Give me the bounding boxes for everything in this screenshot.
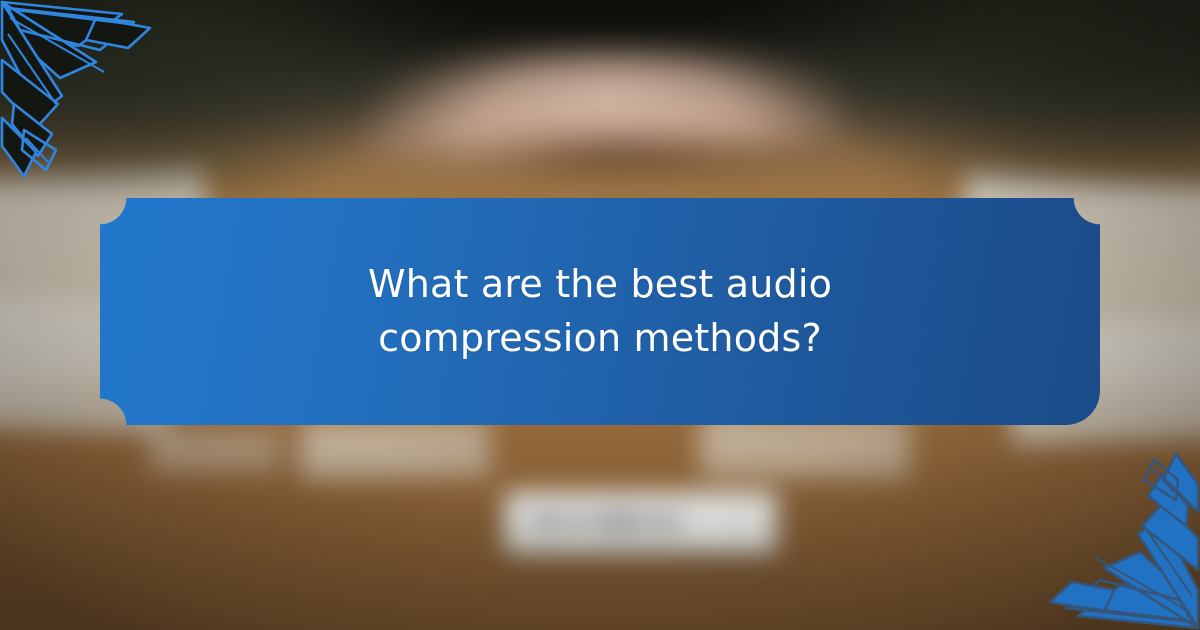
nameplate-glyph-1 [533, 514, 559, 529]
clasped-hands [330, 42, 890, 177]
desk-paper-center-1 [300, 418, 491, 479]
question-title: What are the best audio compression meth… [260, 258, 940, 366]
screenshot-canvas: What are the best audio compression meth… [0, 0, 1200, 630]
nameplate-glyph-3 [593, 514, 647, 529]
desk-nameplate [505, 492, 777, 554]
nameplate-glyph-4 [656, 514, 678, 529]
desk-nameplate-text [533, 514, 678, 529]
desk-paper-center-3 [150, 430, 280, 472]
question-card: What are the best audio compression meth… [100, 198, 1100, 425]
nameplate-glyph-2 [568, 514, 584, 529]
